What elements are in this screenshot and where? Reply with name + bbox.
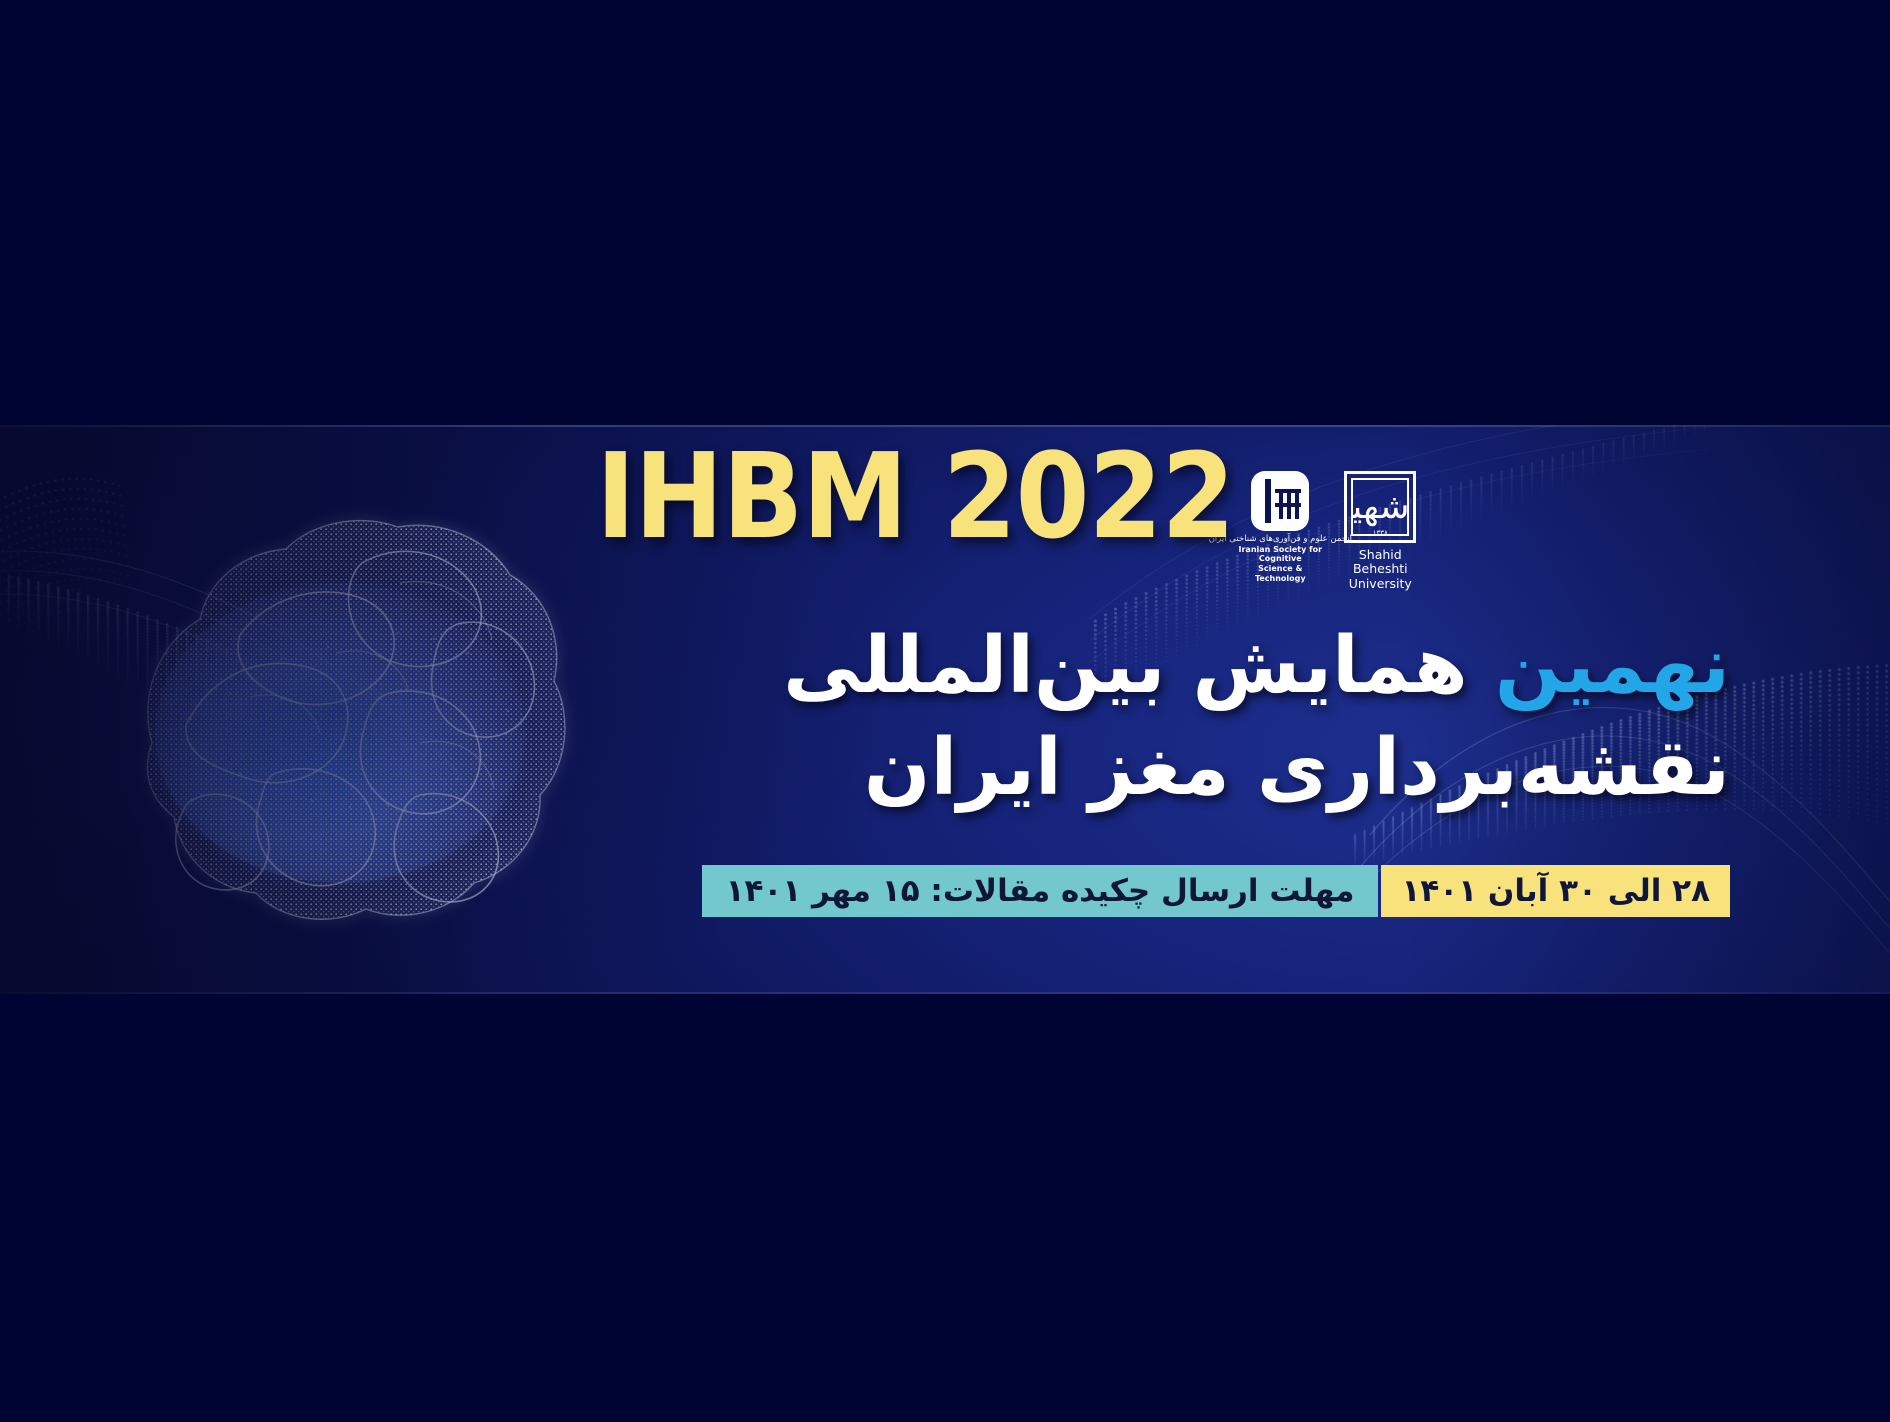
sbu-calligraphy-text: دانشگاه شهید بهشتی — [1351, 490, 1409, 524]
headline-persian-accent-word: نهمین — [1495, 621, 1730, 711]
conference-date-badge: ۲۸ الی ۳۰ آبان ۱۴۰۱ — [1381, 865, 1730, 917]
headline-persian-line-1: نهمین همایش بین‌المللی — [783, 623, 1730, 710]
page-title: IHBM 2022 — [596, 437, 1234, 555]
isct-caption-en-line1: Iranian Society for Cognitive — [1234, 545, 1326, 564]
headline-persian-line-2: نقشه‌برداری مغز ایران — [864, 725, 1730, 812]
sbu-founding-year: ۱۳۳۸ — [1347, 529, 1413, 537]
abstract-deadline-badge: مهلت ارسال چکیده مقالات: ۱۵ مهر ۱۴۰۱ — [702, 865, 1379, 917]
sbu-calligraphy-frame: دانشگاه شهید بهشتی — [1351, 478, 1409, 536]
isct-caption-en-line2: Science & Technology — [1234, 564, 1326, 583]
banner-content-column: IHBM 2022 انجمن علوم و فن‌آوری‌های شناخت… — [580, 425, 1730, 994]
wireframe-brain-illustration — [90, 443, 610, 983]
conference-banner: IHBM 2022 انجمن علوم و فن‌آوری‌های شناخت… — [0, 425, 1890, 994]
badge-row: ۲۸ الی ۳۰ آبان ۱۴۰۱ مهلت ارسال چکیده مقا… — [702, 865, 1730, 917]
isct-logo-icon — [1251, 471, 1309, 531]
headline-row: IHBM 2022 انجمن علوم و فن‌آوری‌های شناخت… — [580, 425, 1730, 625]
headline-persian-line-1-rest: همایش بین‌المللی — [783, 621, 1468, 711]
logo-group: انجمن علوم و فن‌آوری‌های شناختی ایران Ir… — [1234, 471, 1426, 591]
logo-iranian-society-cognitive-science: انجمن علوم و فن‌آوری‌های شناختی ایران Ir… — [1234, 471, 1326, 583]
sbu-caption-en-line1: Shahid Beheshti — [1334, 548, 1426, 577]
sbu-caption-en-line2: University — [1349, 577, 1412, 591]
sbu-logo-icon: دانشگاه شهید بهشتی ۱۳۳۸ — [1344, 471, 1416, 543]
logo-shahid-beheshti-university: دانشگاه شهید بهشتی ۱۳۳۸ Shahid Beheshti … — [1334, 471, 1426, 591]
dotted-wave-left-decoration — [0, 425, 480, 885]
